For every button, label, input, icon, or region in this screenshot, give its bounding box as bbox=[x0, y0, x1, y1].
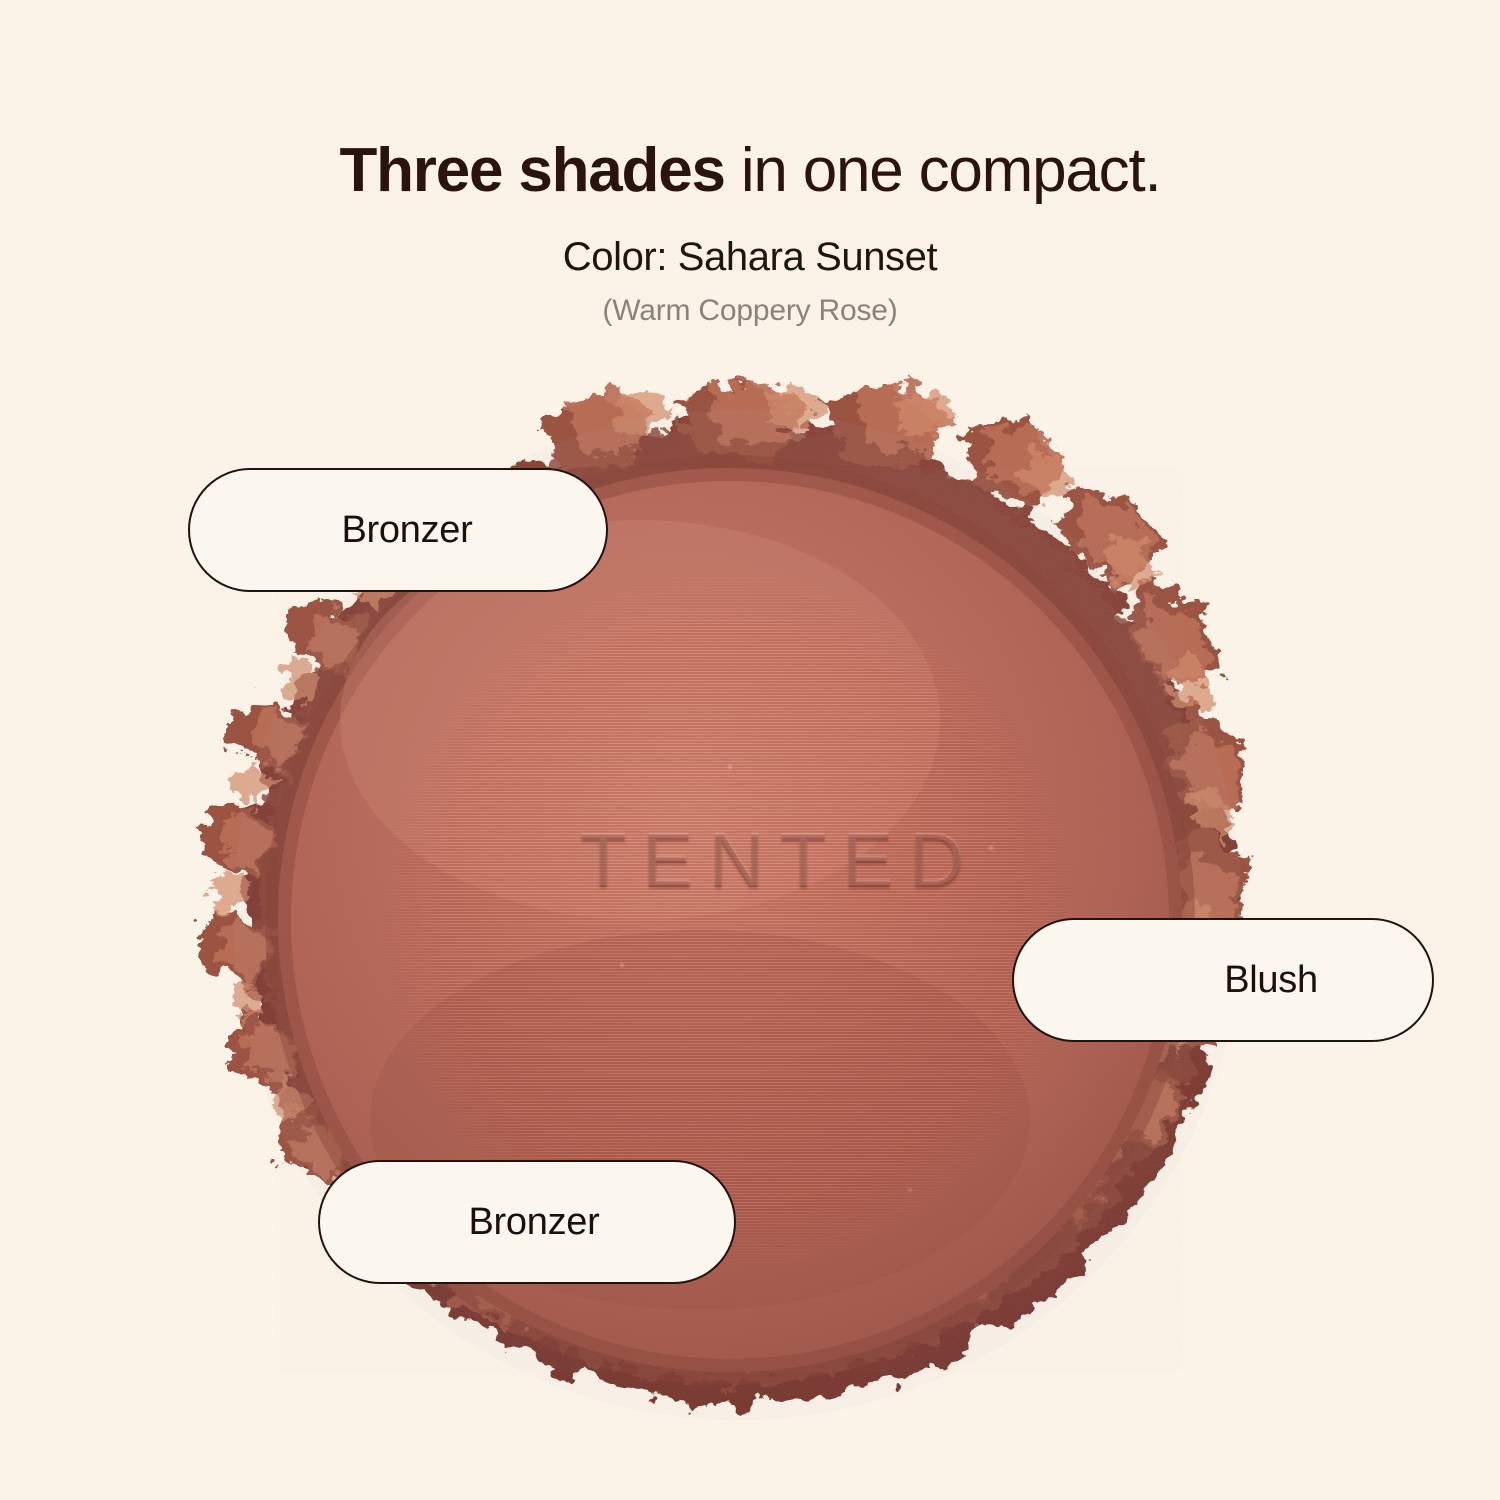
headline-rest: in one compact. bbox=[725, 136, 1161, 205]
headline-emphasis: Three shades bbox=[339, 136, 724, 205]
callout-blush[interactable]: Blush bbox=[1012, 918, 1434, 1042]
callout-bronzer-bottom[interactable]: Bronzer bbox=[318, 1160, 736, 1284]
page-title: Three shades in one compact. bbox=[0, 138, 1500, 203]
callout-bronzer-top-label: Bronzer bbox=[190, 509, 606, 552]
shade-name: Color: Sahara Sunset bbox=[0, 235, 1500, 280]
header-block: Three shades in one compact. Color: Saha… bbox=[0, 0, 1500, 328]
callout-bronzer-bottom-label: Bronzer bbox=[320, 1201, 734, 1244]
callout-blush-label: Blush bbox=[1014, 959, 1432, 1002]
callout-bronzer-top[interactable]: Bronzer bbox=[188, 468, 608, 592]
shade-description: (Warm Coppery Rose) bbox=[0, 294, 1500, 328]
